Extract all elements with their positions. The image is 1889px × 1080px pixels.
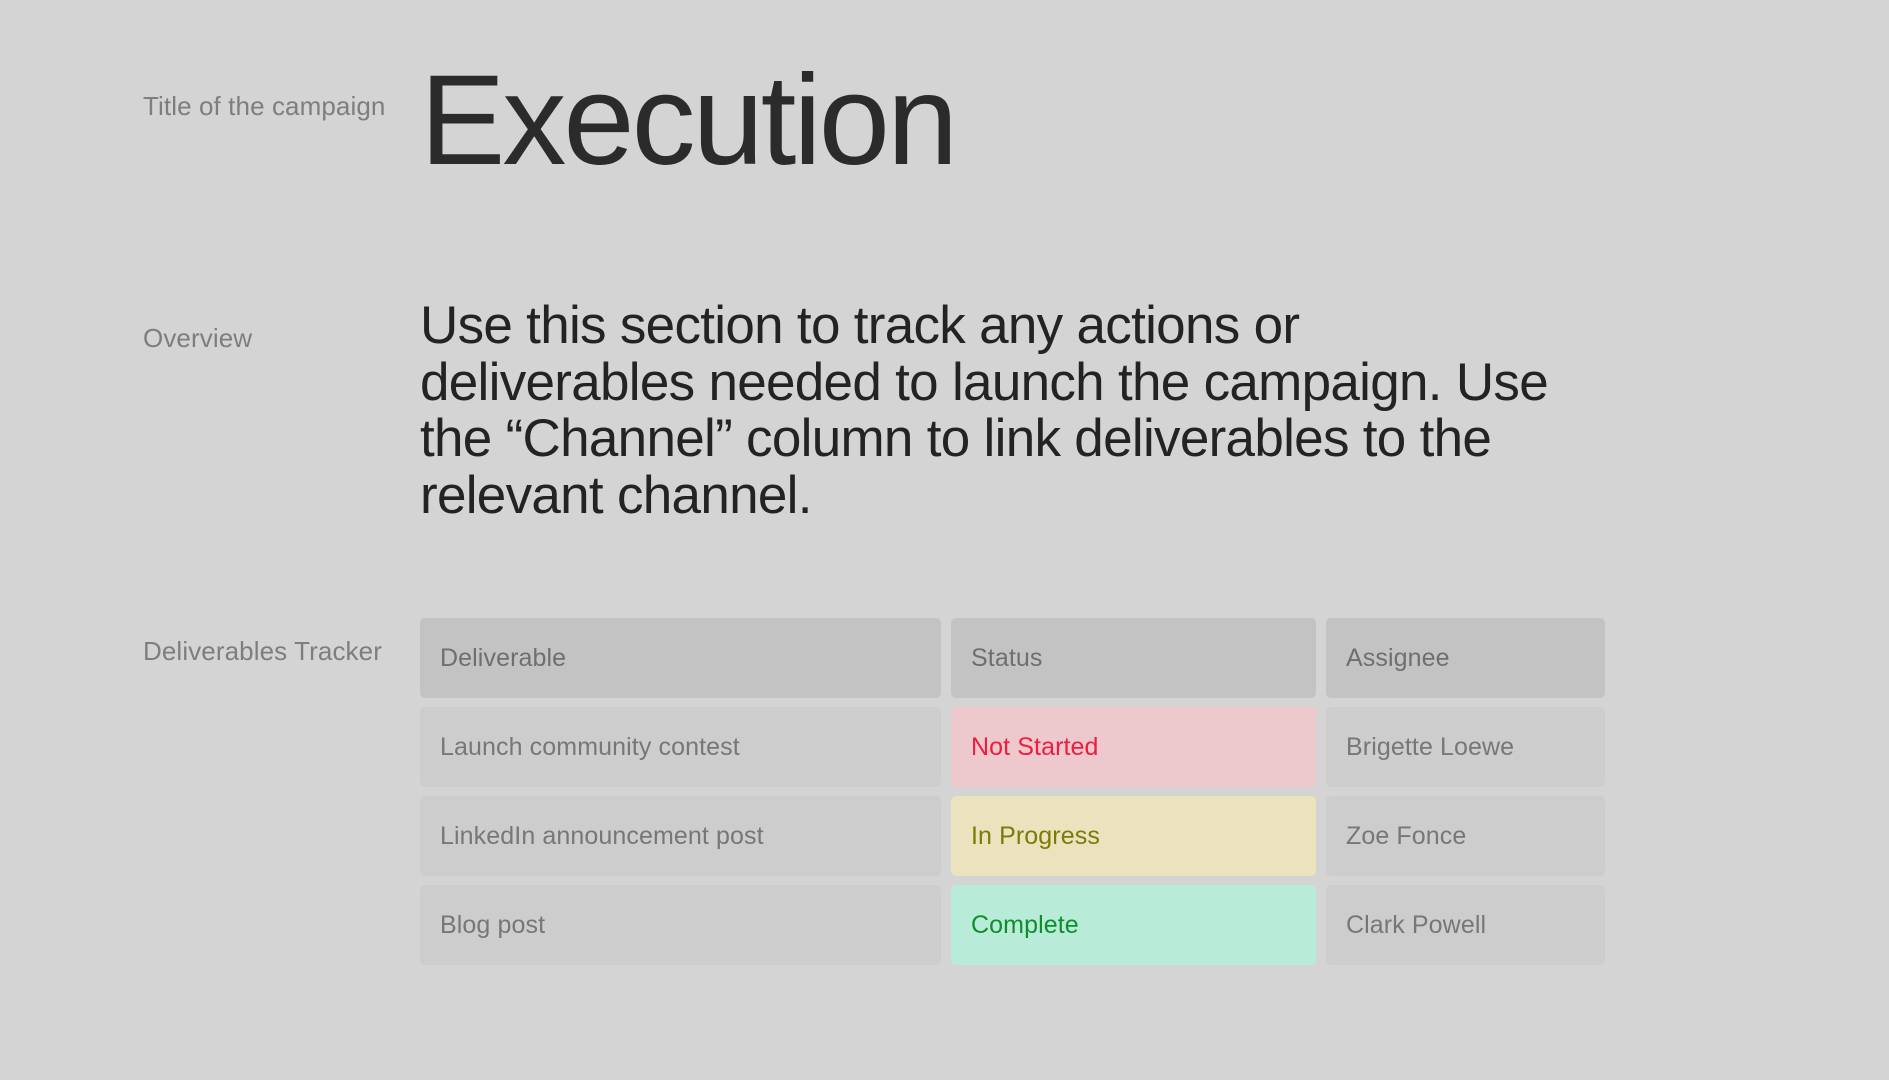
- cell-deliverable[interactable]: Blog post: [420, 885, 941, 965]
- cell-assignee[interactable]: Brigette Loewe: [1326, 707, 1605, 787]
- title-section-content: Execution: [420, 90, 1889, 180]
- overview-section-label: Overview: [0, 322, 420, 354]
- table-row[interactable]: Launch community contestNot StartedBrige…: [420, 707, 1605, 787]
- overview-section-content: Use this section to track any actions or…: [420, 322, 1889, 524]
- cell-deliverable[interactable]: Launch community contest: [420, 707, 941, 787]
- deliverables-tracker-label: Deliverables Tracker: [0, 635, 420, 667]
- table-row[interactable]: Blog postCompleteClark Powell: [420, 885, 1605, 965]
- column-header-assignee[interactable]: Assignee: [1326, 618, 1605, 698]
- slide-canvas: Title of the campaign Execution Overview…: [0, 0, 1889, 1080]
- cell-assignee[interactable]: Clark Powell: [1326, 885, 1605, 965]
- cell-deliverable[interactable]: LinkedIn announcement post: [420, 796, 941, 876]
- cell-status-badge[interactable]: Complete: [951, 885, 1316, 965]
- column-header-status[interactable]: Status: [951, 618, 1316, 698]
- overview-paragraph: Use this section to track any actions or…: [420, 298, 1550, 524]
- title-section-label: Title of the campaign: [0, 90, 420, 122]
- table-row[interactable]: LinkedIn announcement postIn ProgressZoe…: [420, 796, 1605, 876]
- table-header-row: DeliverableStatusAssignee: [420, 618, 1605, 698]
- title-section: Title of the campaign Execution: [0, 90, 1889, 180]
- deliverables-table: DeliverableStatusAssigneeLaunch communit…: [420, 618, 1605, 965]
- column-header-deliverable[interactable]: Deliverable: [420, 618, 941, 698]
- cell-status-badge[interactable]: Not Started: [951, 707, 1316, 787]
- deliverables-tracker-section: Deliverables Tracker DeliverableStatusAs…: [0, 635, 1889, 965]
- page-title: Execution: [420, 62, 1889, 180]
- overview-section: Overview Use this section to track any a…: [0, 322, 1889, 524]
- deliverables-tracker-content: DeliverableStatusAssigneeLaunch communit…: [420, 635, 1889, 965]
- cell-status-badge[interactable]: In Progress: [951, 796, 1316, 876]
- cell-assignee[interactable]: Zoe Fonce: [1326, 796, 1605, 876]
